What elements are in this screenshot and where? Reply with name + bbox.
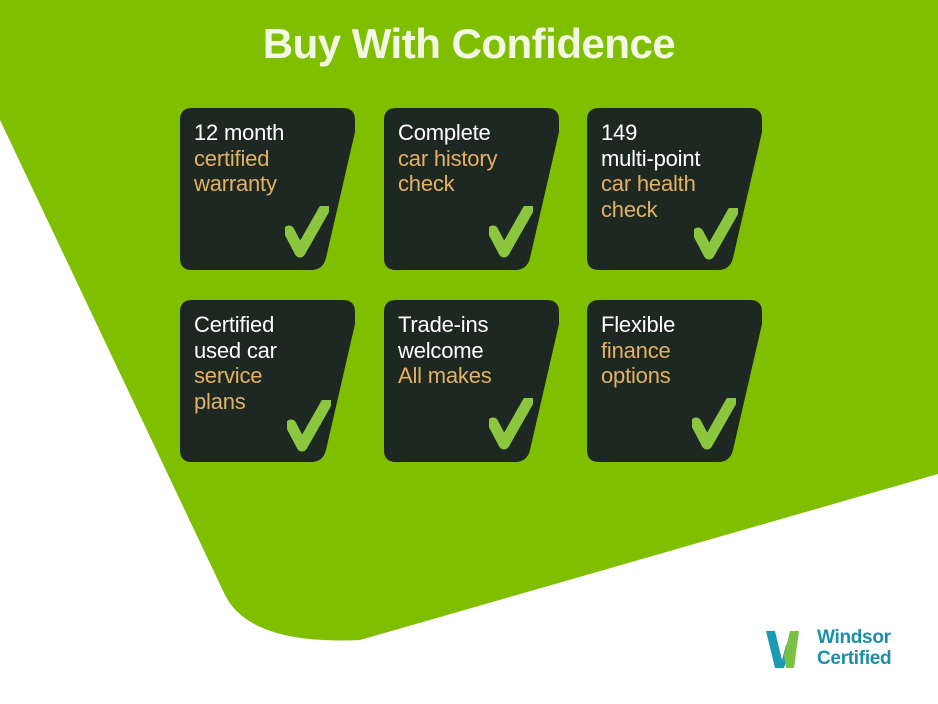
card-text: Trade-ins welcome All makes: [398, 312, 548, 389]
checkmark-icon: [694, 208, 738, 260]
poster-canvas: Buy With Confidence 12 month certified w…: [0, 0, 938, 704]
feature-card-grid: 12 month certified warranty Com: [180, 108, 760, 492]
checkmark-icon: [489, 206, 533, 258]
feature-card-row: Certified used car service plans: [180, 300, 760, 462]
card-line: Complete: [398, 120, 548, 146]
card-line: multi-point: [601, 146, 751, 172]
feature-card-car-history-check[interactable]: Complete car history check: [384, 108, 559, 270]
feature-card-row: 12 month certified warranty Com: [180, 108, 760, 270]
feature-card-flexible-finance[interactable]: Flexible finance options: [587, 300, 762, 462]
logo-wordmark: Windsor Certified: [817, 628, 891, 669]
windsor-w-icon: [764, 628, 810, 670]
page-title: Buy With Confidence: [0, 20, 938, 68]
windsor-certified-logo[interactable]: Windsor Certified: [764, 628, 891, 670]
card-line: warranty: [194, 171, 344, 197]
checkmark-icon: [692, 398, 736, 450]
card-text: Complete car history check: [398, 120, 548, 197]
card-line: check: [398, 171, 548, 197]
card-line: finance: [601, 338, 751, 364]
card-line: used car: [194, 338, 344, 364]
card-line: Flexible: [601, 312, 751, 338]
card-text: 12 month certified warranty: [194, 120, 344, 197]
card-line: All makes: [398, 363, 548, 389]
card-line: 12 month: [194, 120, 344, 146]
card-line: service: [194, 363, 344, 389]
card-line: options: [601, 363, 751, 389]
card-text: Flexible finance options: [601, 312, 751, 389]
card-line: car health: [601, 171, 751, 197]
card-line: Trade-ins: [398, 312, 548, 338]
card-line: certified: [194, 146, 344, 172]
feature-card-certified-warranty[interactable]: 12 month certified warranty: [180, 108, 355, 270]
logo-line-windsor: Windsor: [817, 628, 891, 649]
feature-card-trade-ins-welcome[interactable]: Trade-ins welcome All makes: [384, 300, 559, 462]
checkmark-icon: [489, 398, 533, 450]
feature-card-multi-point-health-check[interactable]: 149 multi-point car health check: [587, 108, 762, 270]
card-line: 149: [601, 120, 751, 146]
card-line: car history: [398, 146, 548, 172]
card-line: Certified: [194, 312, 344, 338]
logo-line-certified: Certified: [817, 649, 891, 670]
checkmark-icon: [285, 206, 329, 258]
feature-card-service-plans[interactable]: Certified used car service plans: [180, 300, 355, 462]
checkmark-icon: [287, 400, 331, 452]
card-line: welcome: [398, 338, 548, 364]
